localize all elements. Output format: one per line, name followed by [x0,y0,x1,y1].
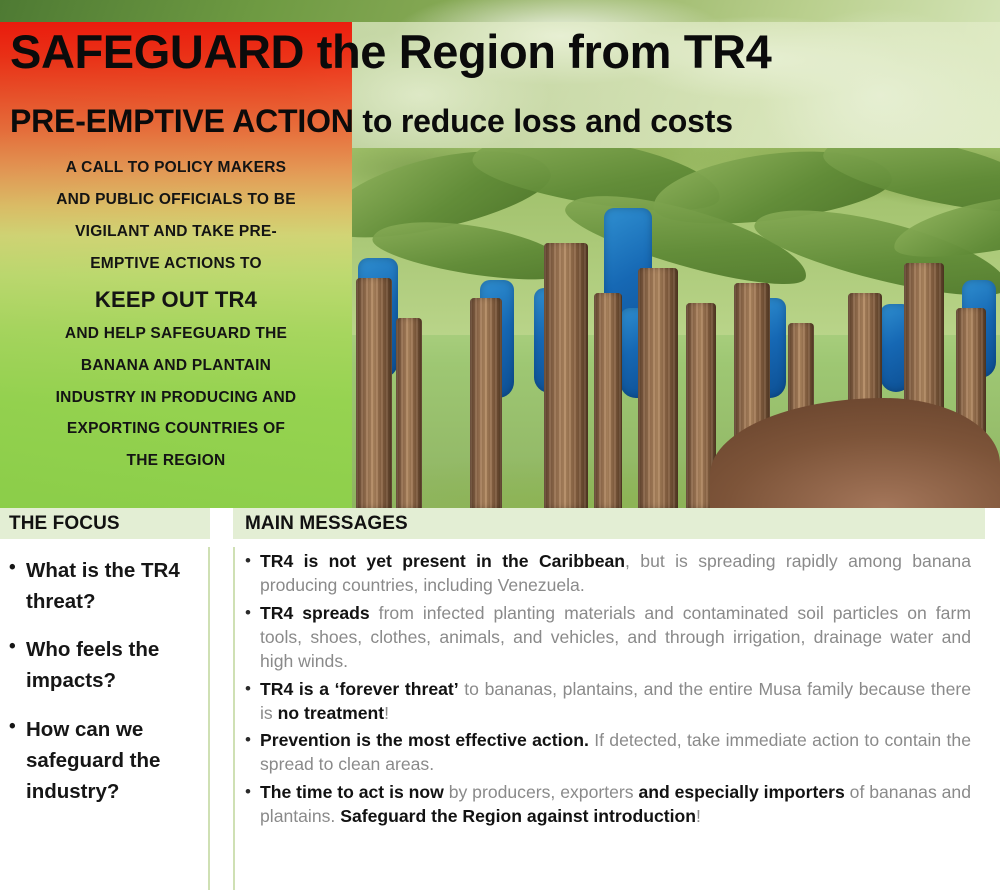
banana-pseudostem [356,278,392,508]
main-messages-column: MAIN MESSAGES TR4 is not yet present in … [233,508,985,890]
headline: SAFEGUARD the Region from TR4 [10,28,990,75]
list-item: TR4 spreads from infected planting mater… [245,602,971,674]
cta-line: VIGILANT AND TAKE PRE- [75,223,277,240]
banana-pseudostem [544,243,588,508]
list-item: Prevention is the most effective action.… [245,729,971,777]
hero-banner: SAFEGUARD the Region from TR4 PRE-EMPTIV… [0,0,1000,508]
list-item: Who feels the impacts? [9,634,204,696]
main-messages-list: TR4 is not yet present in the Caribbean,… [233,550,985,829]
list-item: TR4 is a ‘forever threat’ to bananas, pl… [245,678,971,726]
focus-heading: THE FOCUS [0,508,210,539]
list-item: How can we safeguard the industry? [9,714,204,807]
cta-line: INDUSTRY IN PRODUCING AND [56,389,297,406]
cta-line: EMPTIVE ACTIONS TO [90,255,262,272]
focus-column: THE FOCUS What is the TR4 threat? Who fe… [0,508,210,890]
list-item: The time to act is now by producers, exp… [245,781,971,829]
banana-pseudostem [594,293,622,508]
cta-line: BANANA AND PLANTAIN [81,357,271,374]
cta-emphasis: KEEP OUT TR4 [0,280,352,318]
main-messages-heading: MAIN MESSAGES [233,508,985,539]
headline-highlight: SAFEGUARD [10,25,304,78]
cta-line: AND PUBLIC OFFICIALS TO BE [56,191,296,208]
cta-line: EXPORTING COUNTRIES OF [67,420,285,437]
call-to-action-text: A CALL TO POLICY MAKERS AND PUBLIC OFFIC… [0,152,352,477]
headline-rest: the Region from TR4 [304,25,771,78]
banana-pseudostem [638,268,678,508]
list-item: What is the TR4 threat? [9,555,204,617]
focus-list: What is the TR4 threat? Who feels the im… [0,555,210,807]
banana-pseudostem [396,318,422,508]
subheadline-highlight: PRE-EMPTIVE ACTION [10,103,354,139]
cta-line: AND HELP SAFEGUARD THE [65,325,287,342]
banana-plantation-photo [352,148,1000,508]
cta-line: A CALL TO POLICY MAKERS [66,159,286,176]
banana-pseudostem [470,298,502,508]
subheadline: PRE-EMPTIVE ACTION to reduce loss and co… [10,105,990,137]
list-item: TR4 is not yet present in the Caribbean,… [245,550,971,598]
subheadline-rest: to reduce loss and costs [354,103,733,139]
lower-content-area: THE FOCUS What is the TR4 threat? Who fe… [0,508,1000,890]
cta-line: THE REGION [127,452,226,469]
